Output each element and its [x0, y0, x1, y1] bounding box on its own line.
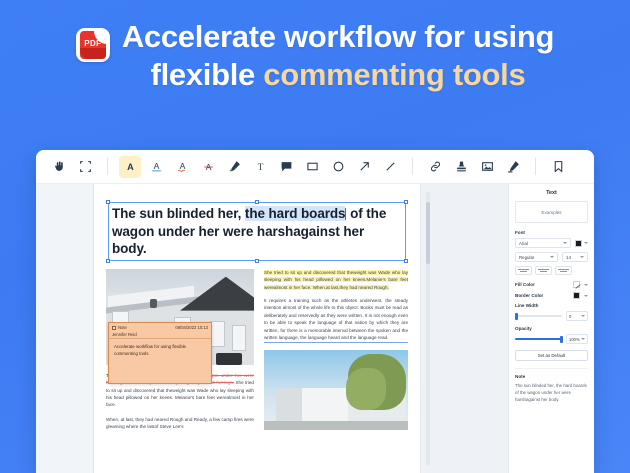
bookmark-icon[interactable]	[547, 156, 569, 178]
opacity-value: 100%	[569, 337, 580, 342]
document-gutter	[420, 184, 508, 473]
headline-before: The sun blinded her,	[112, 206, 245, 221]
opacity-value-field[interactable]: 100%	[566, 334, 588, 344]
document-viewer[interactable]: The sun blinded her, the hard boards of …	[36, 184, 508, 473]
font-color-swatch[interactable]	[575, 240, 582, 247]
line-width-value-field[interactable]: 0	[566, 311, 588, 321]
note-icon	[112, 326, 116, 330]
highlight-text-icon[interactable]: A	[119, 156, 141, 178]
set-as-default-label: Set as Default	[538, 353, 566, 358]
sticky-note-header: Note 06/04/2022 10:13	[109, 323, 211, 332]
opacity-label: Opacity	[515, 326, 588, 331]
chevron-down-icon	[580, 256, 584, 258]
chevron-down-icon[interactable]	[584, 284, 588, 286]
image-icon[interactable]	[476, 156, 498, 178]
opacity-row: 100%	[515, 334, 588, 344]
svg-text:A: A	[179, 161, 185, 171]
toolbar-group-insert	[422, 156, 526, 178]
toolbar-divider-1	[107, 158, 108, 175]
hero-headline-line2-plain: flexible	[151, 57, 264, 92]
panel-divider	[515, 368, 588, 369]
hand-icon[interactable]	[48, 156, 70, 178]
thumbnail-rail	[36, 184, 94, 473]
properties-panel: Text Examples Font Arial Regular	[508, 184, 594, 473]
border-color-row: Border Color	[515, 292, 588, 299]
toolbar-divider-2	[412, 158, 413, 175]
resize-handle-bottom-right[interactable]	[404, 259, 408, 263]
svg-text:A: A	[153, 161, 159, 171]
left-paragraph-2: When, at last, they had neared Rough and…	[106, 416, 254, 431]
stamp-icon[interactable]	[450, 156, 472, 178]
ellipse-icon[interactable]	[327, 156, 349, 178]
fill-color-label: Fill Color	[515, 282, 569, 287]
svg-text:T: T	[257, 162, 263, 172]
strikethrough-icon[interactable]: A	[197, 156, 219, 178]
text-icon[interactable]: T	[249, 156, 271, 178]
resize-handle-top-left[interactable]	[106, 200, 110, 204]
font-style-value: Regular	[519, 255, 534, 260]
headline-selected-text: the hard boards	[245, 206, 346, 221]
resize-handle-bottom-center[interactable]	[255, 259, 259, 263]
right-para-highlight-text: She tried to sit up and discovered that …	[264, 270, 408, 290]
font-family-select[interactable]: Arial	[515, 238, 571, 248]
arrow-icon[interactable]	[353, 156, 375, 178]
pdf-page[interactable]: The sun blinded her, the hard boards of …	[94, 184, 420, 473]
resize-handle-bottom-left[interactable]	[106, 259, 110, 263]
hero-headline: Accelerate workflow for using flexible c…	[122, 18, 554, 94]
line-width-slider[interactable]	[515, 315, 562, 317]
toolbar-group-navigation	[46, 156, 98, 178]
workspace: The sun blinded her, the hard boards of …	[36, 184, 594, 473]
font-size-select[interactable]: 14	[562, 252, 588, 262]
font-family-value: Arial	[519, 241, 528, 246]
chevron-down-icon	[550, 256, 554, 258]
annotation-toolbar: A A A A	[36, 150, 594, 184]
link-icon[interactable]	[424, 156, 446, 178]
fill-color-row: Fill Color	[515, 281, 588, 288]
line-width-value: 0	[569, 314, 571, 319]
border-color-swatch[interactable]	[573, 292, 580, 299]
sticky-note-type-label: Note	[118, 325, 127, 330]
panel-title: Text	[515, 190, 588, 196]
text-align-group	[515, 266, 588, 275]
resize-handle-top-right[interactable]	[404, 200, 408, 204]
pdf-badge-label: PDF	[76, 39, 110, 48]
sticky-note-author: Jennifer Reid	[109, 332, 211, 339]
right-paragraph-underlined: It requires a training such as the athle…	[264, 297, 408, 343]
tree-and-building-photo	[264, 350, 408, 430]
signature-icon[interactable]	[502, 156, 524, 178]
selected-text-box[interactable]: The sun blinded her, the hard boards of …	[108, 202, 406, 261]
svg-text:A: A	[127, 162, 134, 172]
column-right: She tried to sit up and discovered that …	[264, 269, 408, 431]
font-color-picker[interactable]	[575, 240, 588, 247]
preview-text: Examples	[541, 210, 561, 215]
align-right-icon[interactable]	[555, 266, 572, 275]
sticky-note-popup[interactable]: Note 06/04/2022 10:13 Jennifer Reid Acce…	[108, 322, 212, 384]
toolbar-divider-3	[535, 158, 536, 175]
resize-handle-top-center[interactable]	[255, 200, 259, 204]
hero-headline-line1: Accelerate workflow for using	[122, 18, 554, 56]
line-width-label: Line Width	[515, 303, 588, 308]
pencil-icon[interactable]	[223, 156, 245, 178]
border-color-label: Border Color	[515, 293, 569, 298]
squiggly-text-icon[interactable]: A	[171, 156, 193, 178]
set-as-default-button[interactable]: Set as Default	[515, 350, 588, 361]
chevron-down-icon	[581, 338, 585, 340]
rectangle-icon[interactable]	[301, 156, 323, 178]
toolbar-group-markup: A A A A	[117, 156, 403, 178]
fill-color-swatch[interactable]	[573, 281, 580, 288]
chevron-down-icon	[581, 315, 585, 317]
note-section-text: The sun blinded her, the hard boards of …	[515, 382, 588, 403]
right-paragraph-highlighted: She tried to sit up and discovered that …	[264, 269, 408, 291]
font-label: Font	[515, 230, 588, 235]
document-scrollbar-thumb[interactable]	[426, 202, 430, 264]
document-headline: The sun blinded her, the hard boards of …	[112, 205, 402, 258]
hero-banner: PDF Accelerate workflow for using flexib…	[0, 18, 630, 118]
font-size-value: 14	[566, 255, 571, 260]
sticky-note-icon[interactable]	[275, 156, 297, 178]
hero-headline-line2-accent: commenting tools	[263, 57, 525, 92]
hero-headline-line2: flexible commenting tools	[122, 56, 554, 94]
sticky-note-timestamp: 06/04/2022 10:13	[175, 325, 208, 330]
select-area-icon[interactable]	[74, 156, 96, 178]
line-icon[interactable]	[379, 156, 401, 178]
pdf-badge-icon: PDF	[76, 28, 110, 62]
underline-text-icon[interactable]: A	[145, 156, 167, 178]
line-width-row: 0	[515, 311, 588, 321]
align-center-icon[interactable]	[535, 266, 552, 275]
align-left-icon[interactable]	[515, 266, 532, 275]
note-section-label: Note	[515, 374, 588, 379]
font-style-select[interactable]: Regular	[515, 252, 558, 262]
font-family-row: Arial	[515, 238, 588, 248]
font-style-row: Regular 14	[515, 252, 588, 262]
chevron-down-icon[interactable]	[584, 242, 588, 244]
sticky-note-body[interactable]: Accelerate workflow for using flexible c…	[109, 339, 211, 361]
chevron-down-icon	[563, 242, 567, 244]
preview-box: Examples	[515, 201, 588, 223]
chevron-down-icon[interactable]	[584, 295, 588, 297]
opacity-slider[interactable]	[515, 338, 562, 340]
pdf-editor-window: A A A A	[36, 150, 594, 473]
